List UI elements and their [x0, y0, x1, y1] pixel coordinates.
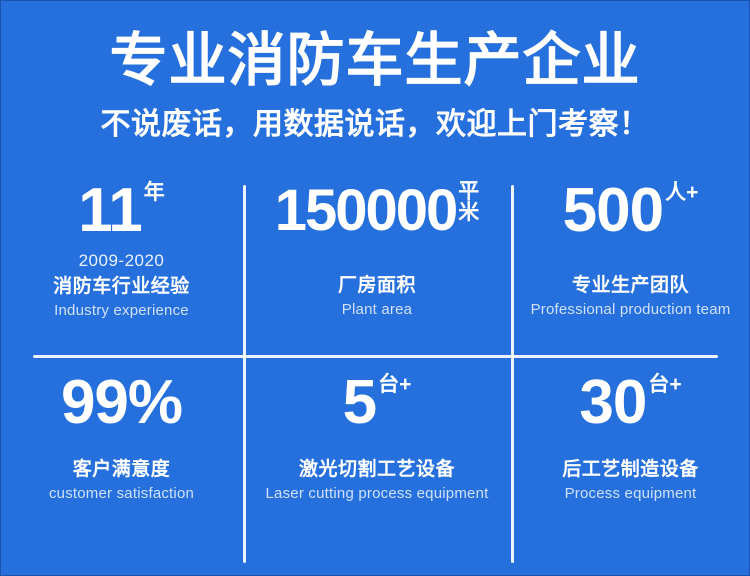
stat-unit-line-1: 平 [458, 181, 479, 202]
stat-unit: 平 米 [458, 181, 479, 223]
stat-number: 11 [78, 178, 142, 244]
promo-poster: 专业消防车生产企业 不说废话，用数据说话，欢迎上门考察！ 11 年 2009-2… [0, 0, 750, 576]
stat-label-cn: 客户满意度 [73, 458, 171, 482]
stats-row-top: 11 年 2009-2020 消防车行业经验 Industry experien… [0, 178, 750, 354]
stat-label-en: Plant area [342, 300, 412, 320]
stat-unit-line-2: 米 [458, 202, 479, 223]
stat-number: 99% [61, 370, 182, 436]
grid-divider-horizontal [33, 355, 718, 358]
stat-number: 500 [563, 178, 663, 244]
stat-label-cn: 激光切割工艺设备 [299, 458, 455, 482]
stat-label-cn: 后工艺制造设备 [562, 458, 699, 482]
stat-unit: 人+ [665, 182, 698, 204]
stat-figure: 150000 平 米 [275, 178, 480, 250]
stat-number: 5 [343, 370, 376, 436]
stat-figure: 30 台+ [579, 370, 681, 442]
stat-label-en: customer satisfaction [49, 484, 194, 504]
stat-number: 150000 [275, 178, 457, 244]
stat-label-en: Process equipment [565, 484, 697, 504]
stat-cell-process-equipment: 30 台+ 后工艺制造设备 Process equipment [511, 370, 750, 546]
stat-unit: 台+ [648, 374, 681, 396]
stat-number: 30 [579, 370, 646, 436]
stat-cell-plant-area: 150000 平 米 厂房面积 Plant area [243, 178, 511, 354]
stats-grid: 11 年 2009-2020 消防车行业经验 Industry experien… [0, 178, 750, 568]
stat-cell-customer-satisfaction: 99% 客户满意度 customer satisfaction [0, 370, 243, 546]
page-title: 专业消防车生产企业 [0, 26, 750, 96]
stat-label-cn: 消防车行业经验 [53, 275, 190, 299]
stat-figure: 500 人+ [563, 178, 699, 250]
poster-header: 专业消防车生产企业 不说废话，用数据说话，欢迎上门考察！ [0, 26, 750, 146]
stat-unit: 台+ [378, 374, 411, 396]
stat-figure: 11 年 [78, 178, 165, 248]
stat-cell-production-team: 500 人+ 专业生产团队 Professional production te… [511, 178, 750, 354]
stat-cell-industry-experience: 11 年 2009-2020 消防车行业经验 Industry experien… [0, 178, 243, 354]
stat-label-en: Professional production team [531, 300, 731, 320]
stat-label-en: Industry experience [54, 301, 189, 321]
stat-figure: 5 台+ [343, 370, 412, 442]
page-subtitle: 不说废话，用数据说话，欢迎上门考察！ [0, 104, 750, 146]
stat-cell-laser-cutting-equipment: 5 台+ 激光切割工艺设备 Laser cutting process equi… [243, 370, 511, 546]
stat-label-cn: 专业生产团队 [572, 274, 689, 298]
stat-period: 2009-2020 [79, 250, 165, 271]
stat-unit: 年 [144, 182, 165, 204]
stat-label-cn: 厂房面积 [338, 274, 416, 298]
stat-label-en: Laser cutting process equipment [266, 484, 489, 504]
stat-figure: 99% [61, 370, 182, 442]
stats-row-bottom: 99% 客户满意度 customer satisfaction 5 台+ 激光切… [0, 370, 750, 546]
